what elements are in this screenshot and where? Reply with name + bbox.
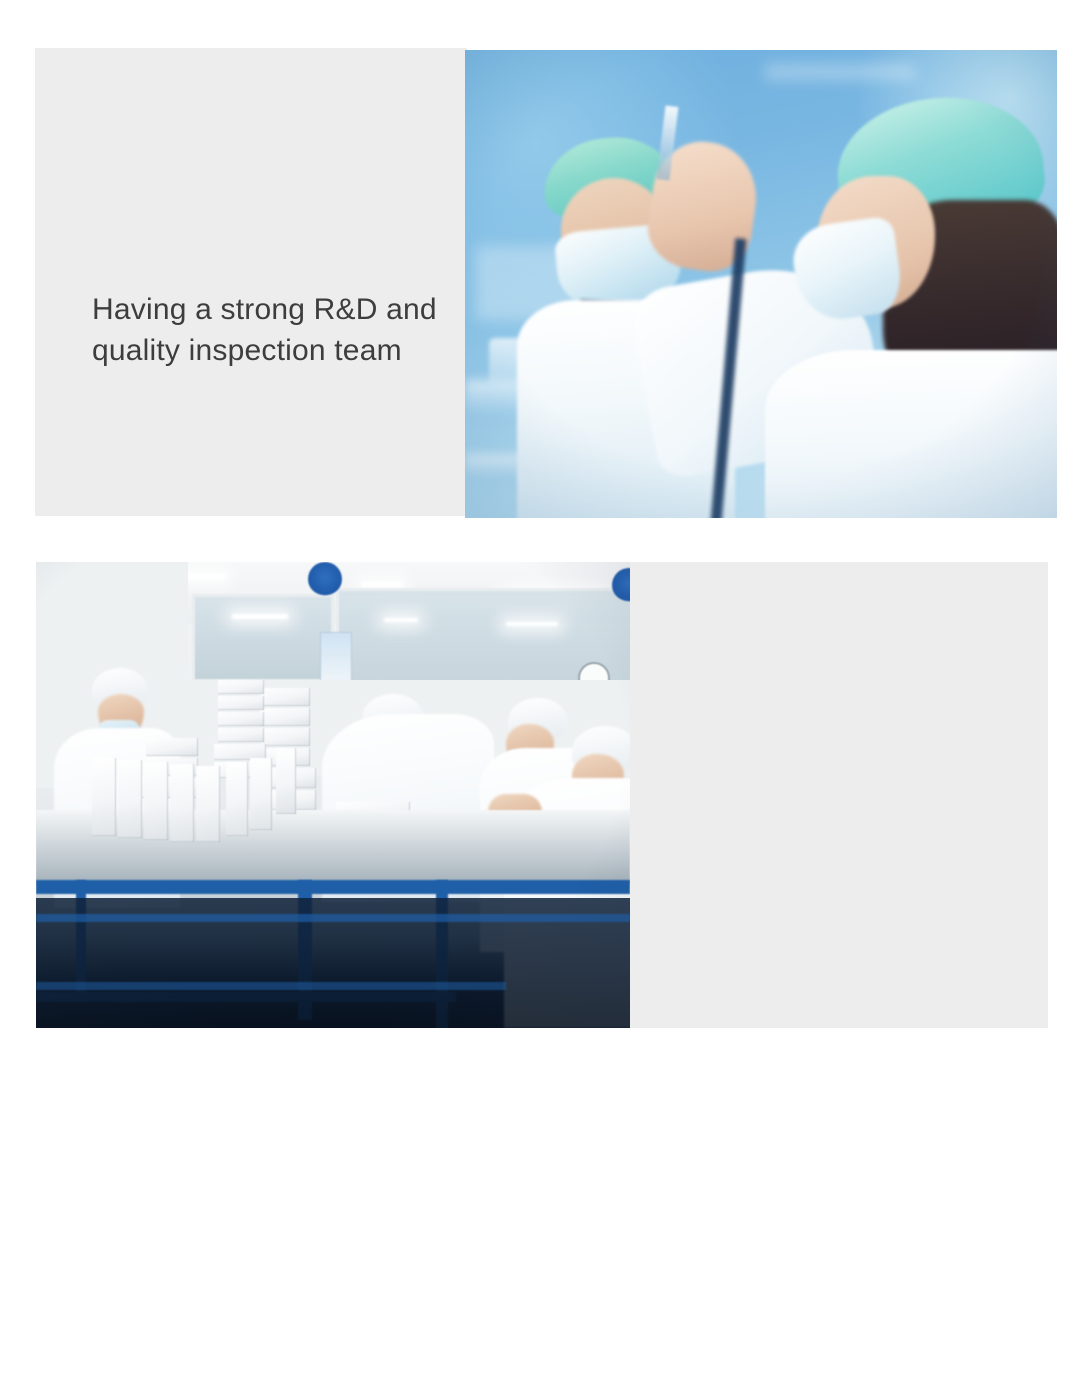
lab-quality-inspection-photo (465, 50, 1057, 518)
photo-vignette (465, 50, 1057, 518)
photo-vignette (36, 562, 630, 1028)
top-caption-line-2: quality inspection team (92, 330, 437, 371)
bottom-caption-panel: a warehouse distribution area a warehous… (630, 562, 1048, 1028)
top-caption: Having a strong R&D and quality inspecti… (92, 289, 437, 371)
warehouse-packing-photo (36, 562, 630, 1028)
top-caption-panel: Having a strong R&D and quality inspecti… (35, 48, 467, 516)
page-canvas: Having a strong R&D and quality inspecti… (0, 0, 1080, 1080)
top-caption-line-1: Having a strong R&D and (92, 289, 437, 330)
